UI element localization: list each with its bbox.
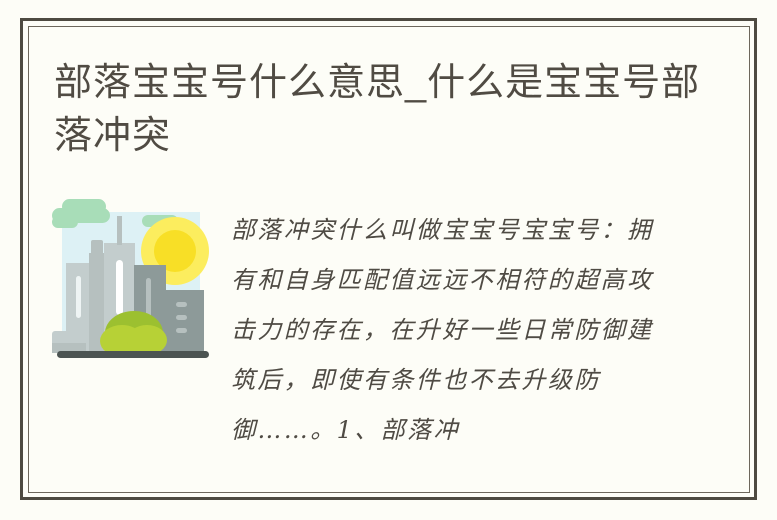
ground-bar: [57, 351, 209, 358]
building-far-right-window-3: [176, 328, 187, 333]
building-back-left-window: [76, 276, 81, 318]
building-far-right: [164, 290, 204, 353]
bush-light-2: [127, 325, 167, 355]
page-title: 部落宝宝号什么意思_什么是宝宝号部落冲突: [54, 57, 714, 163]
article-body: 部落冲突什么叫做宝宝号宝宝号：拥有和自身匹配值远远不相符的超高攻击力的存在，在升…: [231, 205, 676, 455]
building-center-window: [116, 260, 123, 315]
building-far-right-window-2: [176, 315, 187, 320]
building-right-mid-window: [146, 278, 151, 318]
building-far-right-window-1: [176, 302, 187, 307]
building-center-antenna: [117, 216, 122, 245]
building-mid-left-cap: [91, 240, 103, 255]
article-card-page: 部落宝宝号什么意思_什么是宝宝号部落冲突: [0, 0, 777, 520]
cityscape-illustration: [52, 198, 214, 363]
cityscape-illustration-svg: [52, 198, 214, 363]
